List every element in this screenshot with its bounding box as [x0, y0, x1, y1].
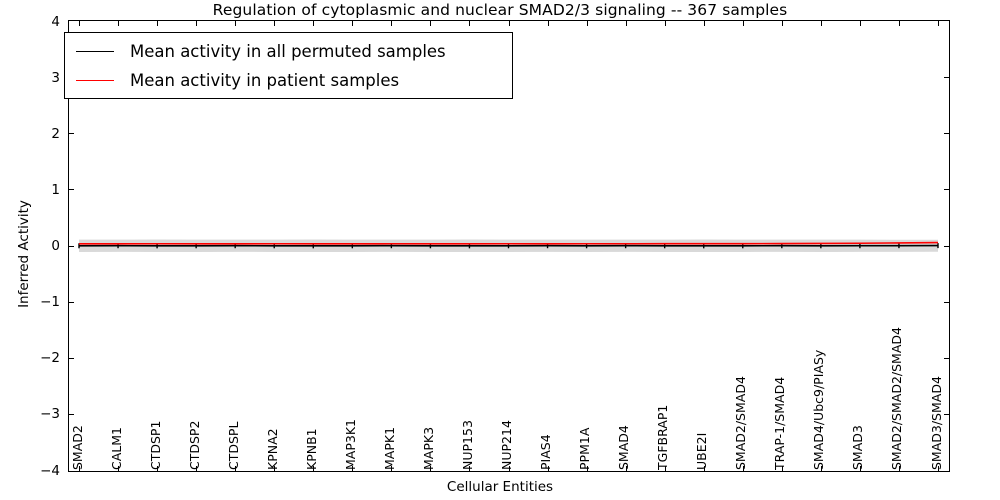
x-tick-label: CALM1 [109, 427, 124, 470]
legend-line-swatch-patient [76, 80, 114, 81]
x-tick-label: UBE2I [694, 433, 709, 470]
x-tick-mark [352, 21, 353, 26]
y-tick-mark [69, 358, 74, 359]
x-tick-label: SMAD3/SMAD4 [929, 376, 944, 470]
x-tick-label: CTDSP1 [148, 421, 163, 470]
x-tick-label: CTDSP2 [187, 421, 202, 470]
x-tick-label: MAPK3 [421, 427, 436, 470]
x-tick-mark [587, 21, 588, 26]
x-tick-label: KPNB1 [304, 428, 319, 470]
x-tick-label: SMAD4/Ubc9/PIASy [811, 350, 826, 470]
x-tick-label: TGFBRAP1 [655, 405, 670, 470]
y-tick-label: −2 [40, 350, 60, 366]
x-tick-mark [665, 21, 666, 26]
x-tick-mark [157, 21, 158, 26]
y-axis-title: Inferred Activity [16, 134, 32, 374]
y-tick-label: −3 [40, 406, 60, 422]
y-tick-label: 0 [51, 238, 60, 254]
x-tick-mark [860, 21, 861, 26]
chart-figure: Regulation of cytoplasmic and nuclear SM… [0, 0, 1000, 500]
x-tick-label: KPNA2 [265, 428, 280, 470]
x-tick-label: SMAD4 [616, 425, 631, 470]
x-tick-mark [391, 21, 392, 26]
y-tick-mark [944, 302, 949, 303]
x-tick-label: PIAS4 [538, 434, 553, 470]
x-tick-mark [430, 21, 431, 26]
x-tick-mark [548, 21, 549, 26]
x-tick-mark [938, 21, 939, 26]
x-tick-mark [196, 21, 197, 26]
y-tick-label: 1 [51, 182, 60, 198]
y-tick-mark [69, 246, 74, 247]
x-tick-mark [743, 21, 744, 26]
legend-label-patient: Mean activity in patient samples [130, 71, 399, 90]
chart-legend: Mean activity in all permuted samples Me… [64, 32, 513, 99]
x-tick-label: PPM1A [577, 428, 592, 470]
y-tick-mark [69, 414, 74, 415]
y-tick-mark [69, 133, 74, 134]
legend-entry-permuted: Mean activity in all permuted samples [76, 37, 446, 65]
y-tick-mark [944, 133, 949, 134]
x-tick-label: MAPK1 [382, 427, 397, 470]
y-tick-mark [944, 189, 949, 190]
legend-entry-patient: Mean activity in patient samples [76, 66, 399, 94]
y-tick-label: −4 [40, 463, 60, 479]
y-tick-label: 3 [51, 70, 60, 86]
x-tick-label: NUP153 [460, 420, 475, 470]
x-tick-mark [274, 21, 275, 26]
x-tick-mark [313, 21, 314, 26]
x-axis-title: Cellular Entities [0, 479, 1000, 495]
x-tick-label: TRAP-1/SMAD4 [772, 377, 787, 470]
x-tick-label: SMAD2/SMAD4 [733, 376, 748, 470]
x-tick-mark [469, 21, 470, 26]
x-tick-mark [79, 21, 80, 26]
x-tick-mark [626, 21, 627, 26]
y-axis: Inferred Activity −4−3−2−101234 [0, 0, 68, 500]
x-tick-label: MAP3K1 [343, 419, 358, 470]
y-tick-label: 2 [51, 126, 60, 142]
y-tick-mark [944, 358, 949, 359]
y-tick-mark [69, 189, 74, 190]
y-tick-mark [944, 414, 949, 415]
x-tick-label: CTDSPL [226, 422, 241, 470]
x-tick-label: NUP214 [499, 420, 514, 470]
x-tick-mark [782, 21, 783, 26]
y-tick-label: 4 [51, 14, 60, 30]
x-tick-label: SMAD2/SMAD2/SMAD4 [889, 327, 904, 470]
y-tick-label: −1 [40, 294, 60, 310]
x-tick-mark [235, 21, 236, 26]
x-tick-mark [821, 21, 822, 26]
legend-label-permuted: Mean activity in all permuted samples [130, 42, 446, 61]
y-tick-mark [944, 246, 949, 247]
x-tick-mark [118, 21, 119, 26]
y-tick-mark [69, 302, 74, 303]
chart-title: Regulation of cytoplasmic and nuclear SM… [0, 1, 1000, 19]
x-tick-mark [899, 21, 900, 26]
x-tick-label: SMAD2 [70, 425, 85, 470]
x-tick-mark [509, 21, 510, 26]
legend-line-swatch-permuted [76, 51, 114, 52]
y-tick-mark [944, 77, 949, 78]
x-tick-mark [704, 21, 705, 26]
x-tick-label: SMAD3 [850, 425, 865, 470]
